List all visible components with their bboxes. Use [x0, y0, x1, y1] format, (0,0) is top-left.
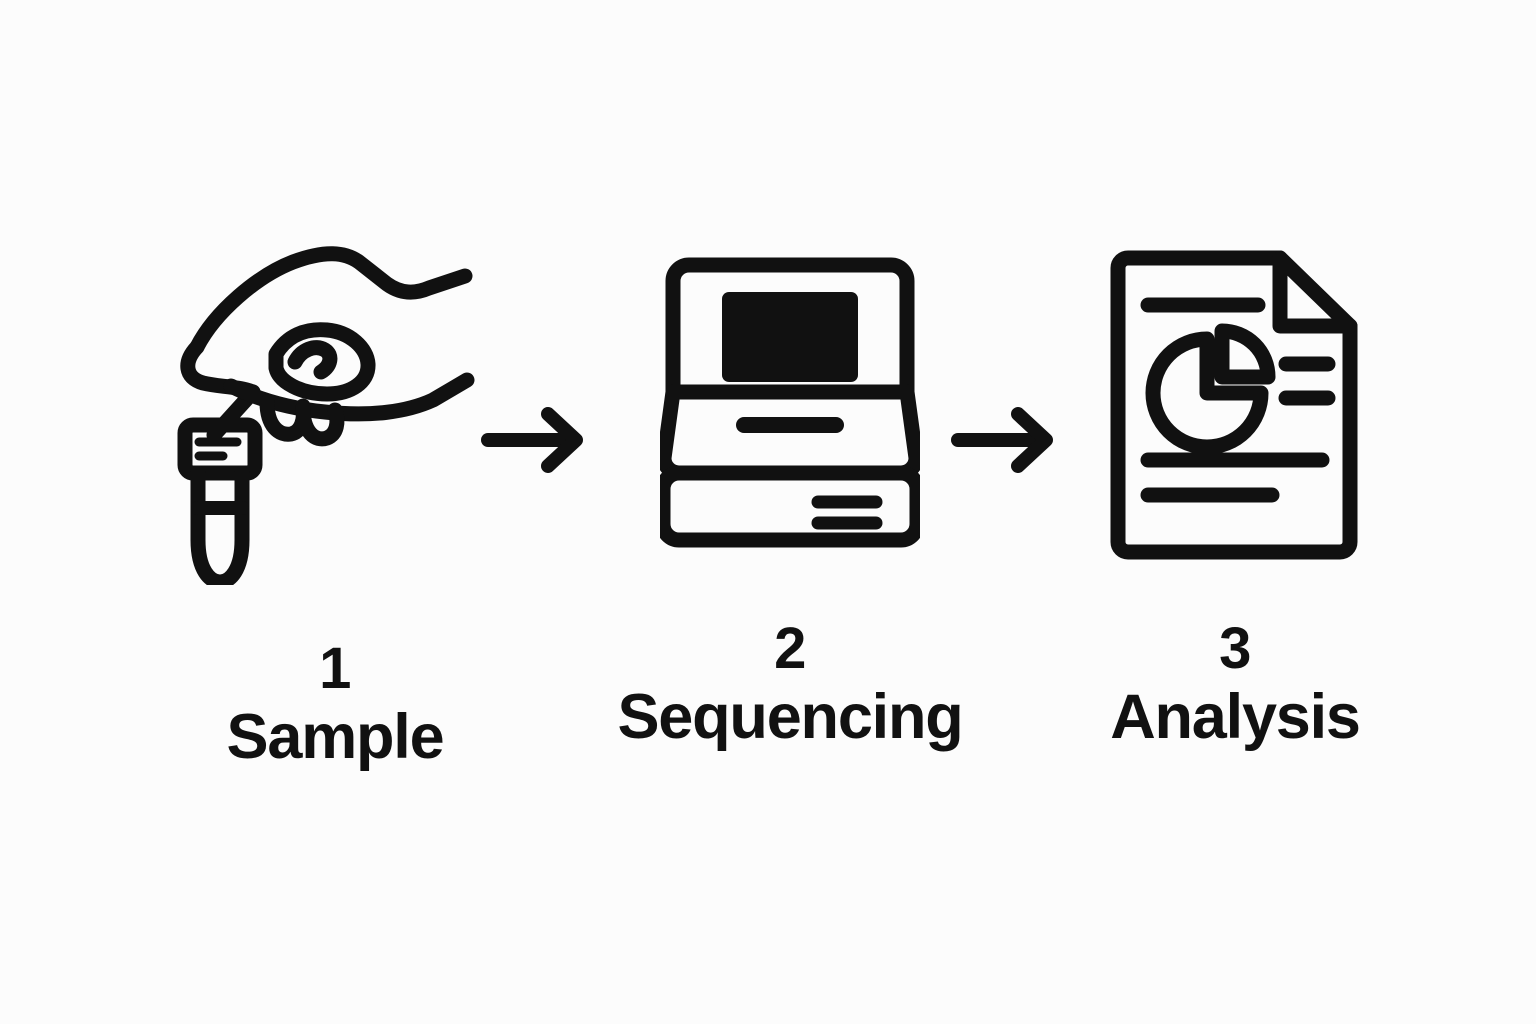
step-number: 1: [319, 640, 351, 698]
step-number: 3: [1219, 620, 1251, 678]
step-label: Analysis: [1110, 686, 1360, 749]
step-label: Sequencing: [617, 686, 962, 749]
arrow-right-icon-1: [480, 405, 590, 480]
workflow-step-sample: 1 Sample: [165, 240, 505, 769]
step-label: Sample: [227, 706, 444, 769]
report-document-pie-chart-icon: [1100, 240, 1370, 570]
workflow-diagram: 1 Sample: [0, 0, 1536, 1024]
sequencing-machine-icon: [660, 240, 920, 570]
arrow-right-icon-2: [950, 405, 1060, 480]
workflow-step-sequencing: 2 Sequencing: [600, 240, 980, 749]
workflow-step-analysis: 3 Analysis: [1065, 240, 1405, 749]
workflow-steps-row: 1 Sample: [0, 0, 1536, 1024]
step-caption-analysis: 3 Analysis: [1110, 620, 1360, 749]
step-caption-sequencing: 2 Sequencing: [617, 620, 962, 749]
step-number: 2: [774, 620, 806, 678]
step-caption-sample: 1 Sample: [227, 640, 444, 769]
hand-holding-swab-test-tube-icon: [175, 240, 495, 590]
